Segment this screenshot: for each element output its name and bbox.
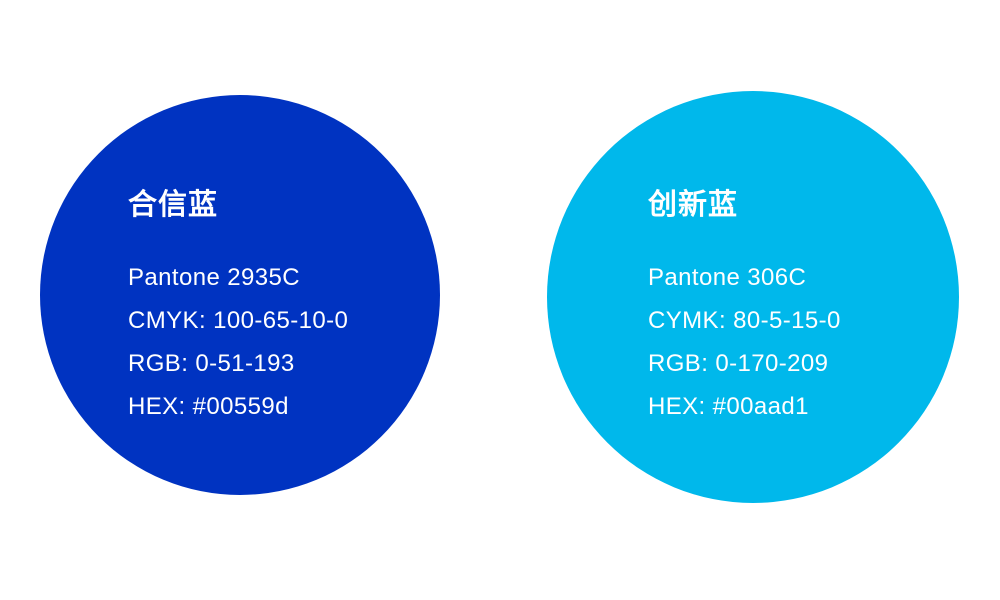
spec-rgb: RGB: 0-51-193 [128, 342, 348, 385]
spec-cmyk: CYMK: 80-5-15-0 [648, 299, 841, 342]
spec-hex: HEX: #00aad1 [648, 385, 841, 428]
swatch-content: 合信蓝 Pantone 2935C CMYK: 100-65-10-0 RGB:… [40, 95, 440, 495]
color-swatch-hexin-blue: 合信蓝 Pantone 2935C CMYK: 100-65-10-0 RGB:… [40, 95, 440, 495]
spec-pantone: Pantone 306C [648, 256, 841, 299]
swatch-spec-list: Pantone 2935C CMYK: 100-65-10-0 RGB: 0-5… [128, 256, 348, 428]
spec-rgb: RGB: 0-170-209 [648, 342, 841, 385]
color-swatch-chuangxin-blue: 创新蓝 Pantone 306C CYMK: 80-5-15-0 RGB: 0-… [547, 91, 959, 503]
spec-pantone: Pantone 2935C [128, 256, 348, 299]
swatch-title-hexin-blue: 合信蓝 [128, 191, 218, 220]
spec-hex: HEX: #00559d [128, 385, 348, 428]
color-swatch-board: 合信蓝 Pantone 2935C CMYK: 100-65-10-0 RGB:… [0, 0, 1000, 600]
swatch-content: 创新蓝 Pantone 306C CYMK: 80-5-15-0 RGB: 0-… [547, 91, 959, 503]
spec-cmyk: CMYK: 100-65-10-0 [128, 299, 348, 342]
swatch-spec-list: Pantone 306C CYMK: 80-5-15-0 RGB: 0-170-… [648, 256, 841, 428]
swatch-title-chuangxin-blue: 创新蓝 [648, 191, 738, 220]
